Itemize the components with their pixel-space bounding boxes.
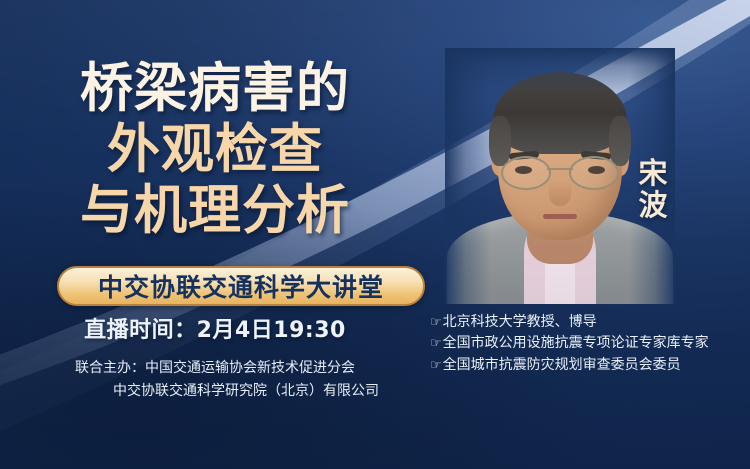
pointing-hand-icon: ☞: [430, 356, 442, 376]
pointing-hand-icon: ☞: [430, 334, 442, 354]
series-banner: 中交协联交通科学大讲堂: [57, 266, 425, 306]
credential-item: ☞ 全国市政公用设施抗震专项论证专家库专家: [430, 333, 748, 354]
pointing-hand-icon: ☞: [430, 313, 442, 333]
speaker-name-char-1: 宋: [632, 157, 674, 189]
credential-item: ☞ 北京科技大学教授、博导: [430, 312, 748, 333]
organizers-block: 联合主办：中国交通运输协会新技术促进分会 中交协联交通科学研究院（北京）有限公司: [0, 357, 430, 402]
title-line-2: 外观检查: [0, 123, 430, 176]
series-banner-label: 中交协联交通科学大讲堂: [98, 268, 384, 304]
title-line-3: 与机理分析: [0, 184, 430, 237]
webinar-poster: 桥梁病害的 外观检查 与机理分析 中交协联交通科学大讲堂 直播时间：2月4日19…: [0, 0, 750, 469]
credential-item: ☞ 全国城市抗震防灾规划审查委员会委员: [430, 355, 748, 376]
credential-text: 全国城市抗震防灾规划审查委员会委员: [443, 355, 681, 376]
speaker-name-char-2: 波: [632, 189, 674, 221]
organizer-line-2: 中交协联交通科学研究院（北京）有限公司: [0, 380, 430, 403]
credential-text: 全国市政公用设施抗震专项论证专家库专家: [443, 333, 709, 354]
organizer-line-1: 联合主办：中国交通运输协会新技术促进分会: [0, 357, 430, 380]
speaker-name: 宋 波: [632, 157, 674, 222]
speaker-credentials: ☞ 北京科技大学教授、博导 ☞ 全国市政公用设施抗震专项论证专家库专家 ☞ 全国…: [430, 312, 748, 376]
broadcast-time: 直播时间：2月4日19:30: [0, 312, 430, 344]
credential-text: 北京科技大学教授、博导: [443, 312, 597, 333]
poster-title: 桥梁病害的 外观检查 与机理分析: [0, 62, 430, 237]
title-line-1: 桥梁病害的: [0, 62, 430, 115]
